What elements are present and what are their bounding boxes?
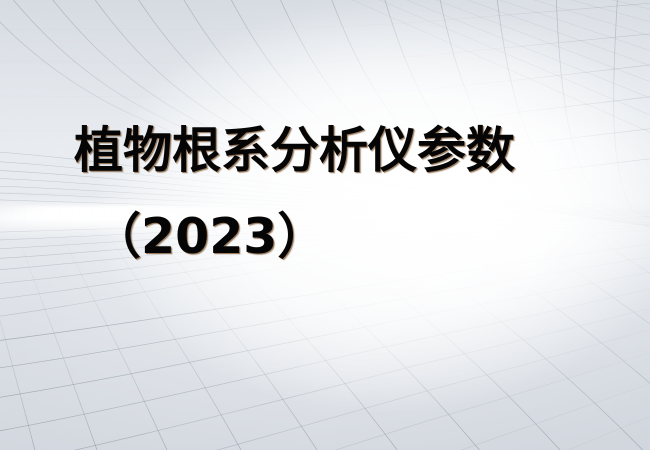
- slide-title[interactable]: 植物根系分析仪参数: [74, 122, 515, 180]
- title-slide: 植物根系分析仪参数 （2023）: [0, 0, 650, 450]
- slide-title-year[interactable]: （2023）: [92, 208, 326, 266]
